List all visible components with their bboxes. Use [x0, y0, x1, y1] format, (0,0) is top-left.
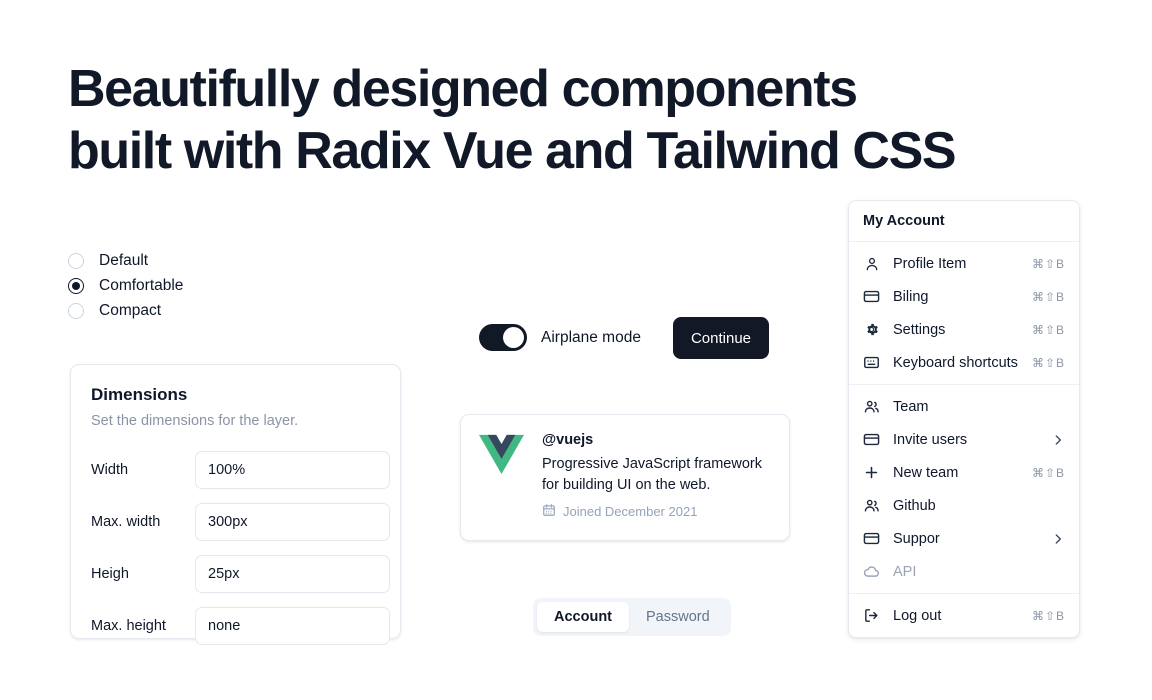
radio-option-comfortable[interactable]: Comfortable	[68, 273, 183, 298]
menu-item-github[interactable]: Github	[849, 489, 1079, 522]
height-label: Heigh	[91, 566, 195, 582]
user-icon	[863, 255, 880, 272]
continue-button[interactable]: Continue	[673, 317, 769, 359]
width-input[interactable]	[195, 451, 390, 489]
menu-item-label: Settings	[893, 322, 1032, 338]
menu-item-settings[interactable]: Settings ⌘⇧B	[849, 313, 1079, 346]
menu-group-session: Log out ⌘⇧B	[849, 594, 1079, 637]
page-title-line-1: Beautifully designed components	[68, 60, 857, 118]
chevron-right-icon	[1051, 433, 1065, 447]
menu-item-team[interactable]: Team	[849, 390, 1079, 423]
menu-item-label: API	[893, 564, 1065, 580]
calendar-icon	[542, 503, 563, 520]
vuejs-description: Progressive JavaScript framework for bui…	[542, 454, 771, 496]
users-icon	[863, 497, 880, 514]
density-radio-group: Default Comfortable Compact	[68, 248, 183, 323]
keyboard-icon	[863, 354, 880, 371]
height-input[interactable]	[195, 555, 390, 593]
airplane-mode-switch-row: Airplane mode	[479, 324, 641, 351]
users-icon	[863, 398, 880, 415]
plus-icon	[863, 464, 880, 481]
menu-item-label: Profile Item	[893, 256, 1032, 272]
tab-password[interactable]: Password	[629, 602, 727, 632]
menu-item-support[interactable]: Suppor	[849, 522, 1079, 555]
radio-option-compact[interactable]: Compact	[68, 298, 183, 323]
menu-item-label: Keyboard shortcuts	[893, 355, 1032, 371]
width-label: Width	[91, 462, 195, 478]
menu-item-shortcut: ⌘⇧B	[1032, 290, 1065, 304]
radio-circle-checked-icon	[68, 278, 84, 294]
airplane-mode-label: Airplane mode	[541, 329, 641, 347]
radio-label: Comfortable	[99, 277, 183, 295]
radio-label: Default	[99, 252, 148, 270]
menu-item-shortcut: ⌘⇧B	[1032, 466, 1065, 480]
cloud-icon	[863, 563, 880, 580]
menu-item-invite-users[interactable]: Invite users	[849, 423, 1079, 456]
vue-logo-icon	[479, 432, 524, 477]
credit-card-icon	[863, 288, 880, 305]
dimensions-field-row: Max. height	[91, 607, 380, 645]
vuejs-joined-text: Joined December 2021	[563, 504, 697, 519]
menu-item-label: Team	[893, 399, 1065, 415]
menu-group-team: Team Invite users New team ⌘⇧B Github	[849, 385, 1079, 593]
menu-item-label: Log out	[893, 608, 1032, 624]
airplane-mode-switch[interactable]	[479, 324, 527, 351]
gear-icon	[863, 321, 880, 338]
credit-card-icon	[863, 530, 880, 547]
menu-item-label: Invite users	[893, 432, 1051, 448]
credit-card-icon	[863, 431, 880, 448]
max-height-input[interactable]	[195, 607, 390, 645]
max-width-label: Max. width	[91, 514, 195, 530]
radio-option-default[interactable]: Default	[68, 248, 183, 273]
menu-item-keyboard-shortcuts[interactable]: Keyboard shortcuts ⌘⇧B	[849, 346, 1079, 379]
menu-item-api: API	[849, 555, 1079, 588]
my-account-dropdown-menu: My Account Profile Item ⌘⇧B Biling ⌘⇧B S…	[848, 200, 1080, 638]
menu-item-new-team[interactable]: New team ⌘⇧B	[849, 456, 1079, 489]
menu-item-shortcut: ⌘⇧B	[1032, 257, 1065, 271]
max-width-input[interactable]	[195, 503, 390, 541]
dimensions-title: Dimensions	[91, 385, 380, 405]
menu-item-billing[interactable]: Biling ⌘⇧B	[849, 280, 1079, 313]
dimensions-subtitle: Set the dimensions for the layer.	[91, 413, 380, 429]
radio-circle-icon	[68, 253, 84, 269]
dimensions-field-row: Width	[91, 451, 380, 489]
menu-item-shortcut: ⌘⇧B	[1032, 323, 1065, 337]
dimensions-field-row: Heigh	[91, 555, 380, 593]
max-height-label: Max. height	[91, 618, 195, 634]
switch-knob	[503, 327, 524, 348]
menu-item-shortcut: ⌘⇧B	[1032, 609, 1065, 623]
menu-header: My Account	[849, 201, 1079, 241]
radio-label: Compact	[99, 302, 161, 320]
menu-item-log-out[interactable]: Log out ⌘⇧B	[849, 599, 1079, 632]
logout-icon	[863, 607, 880, 624]
settings-tabs: Account Password	[533, 598, 731, 636]
dimensions-card: Dimensions Set the dimensions for the la…	[70, 364, 401, 639]
menu-item-label: Github	[893, 498, 1065, 514]
menu-item-profile[interactable]: Profile Item ⌘⇧B	[849, 247, 1079, 280]
dimensions-field-row: Max. width	[91, 503, 380, 541]
menu-item-shortcut: ⌘⇧B	[1032, 356, 1065, 370]
page-title-line-2: built with Radix Vue and Tailwind CSS	[68, 122, 955, 180]
page-title: Beautifully designed components built wi…	[68, 58, 1048, 182]
menu-item-label: Suppor	[893, 531, 1051, 547]
tab-account[interactable]: Account	[537, 602, 629, 632]
vuejs-handle: @vuejs	[542, 432, 771, 448]
chevron-right-icon	[1051, 532, 1065, 546]
radio-circle-icon	[68, 303, 84, 319]
menu-item-label: Biling	[893, 289, 1032, 305]
vuejs-hover-card: @vuejs Progressive JavaScript framework …	[460, 414, 790, 541]
menu-group-account: Profile Item ⌘⇧B Biling ⌘⇧B Settings ⌘⇧B…	[849, 242, 1079, 384]
menu-item-label: New team	[893, 465, 1032, 481]
vuejs-joined-row: Joined December 2021	[542, 503, 771, 520]
